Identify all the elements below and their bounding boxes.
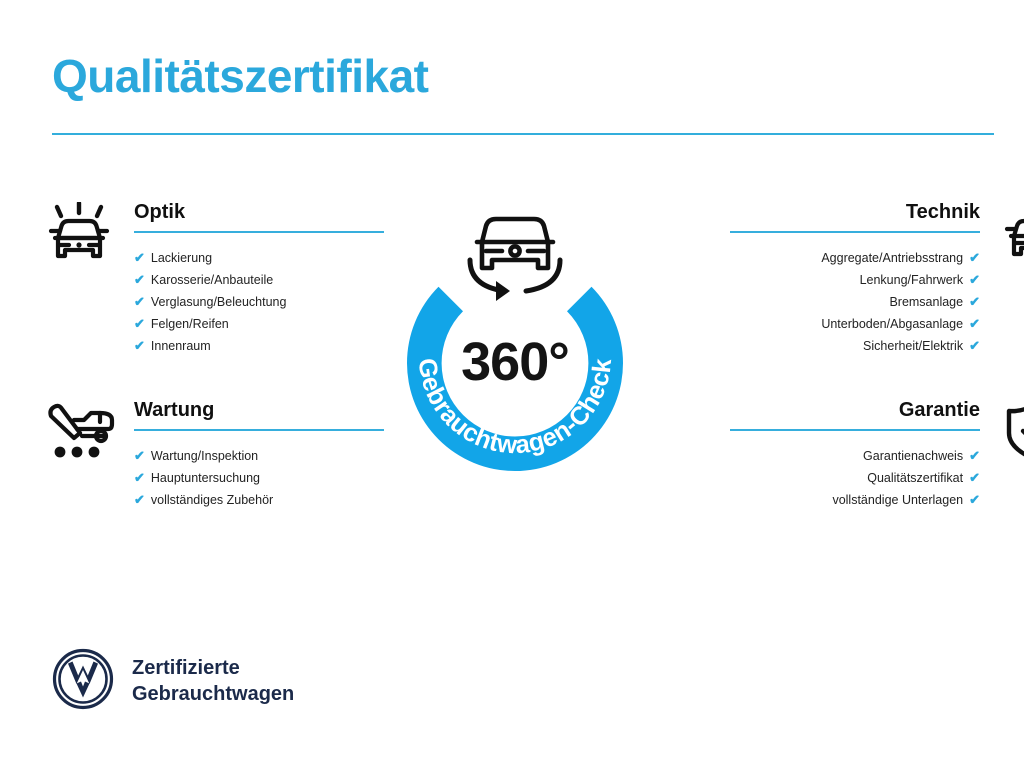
footer-logo-text: Zertifizierte Gebrauchtwagen [132,656,294,707]
check-icon: ✔ [134,272,145,287]
section-technik: Technik Aggregate/Antriebsstrang✔ Lenkun… [640,202,1024,357]
list-item-label: Garantienachweis [863,449,963,463]
list-item-label: Verglasung/Beleuchtung [151,295,287,309]
check-icon: ✔ [134,448,145,463]
check-icon: ✔ [134,338,145,353]
section-garantie: Garantie Garantienachweis✔ Qualitätszert… [640,400,1024,511]
list-item: Aggregate/Antriebsstrang✔ [640,247,980,269]
check-icon: ✔ [969,338,980,353]
checklist-garantie: Garantienachweis✔ Qualitätszertifikat✔ v… [640,431,980,511]
checklist-technik: Aggregate/Antriebsstrang✔ Lenkung/Fahrwe… [640,233,980,357]
check-icon: ✔ [969,448,980,463]
title-divider [52,133,994,135]
section-heading-garantie: Garantie [640,400,980,429]
list-item: Unterboden/Abgasanlage✔ [640,313,980,335]
car-checkbox-icon [998,202,1024,271]
page-title: Qualitätszertifikat [52,52,429,100]
list-item-label: Bremsanlage [889,295,963,309]
list-item-label: Karosserie/Anbauteile [151,273,273,287]
volkswagen-logo [52,648,114,715]
list-item-label: Innenraum [151,339,211,353]
certificate-page: Qualitätszertifikat [0,0,1024,768]
list-item-label: Lenkung/Fahrwerk [860,273,964,287]
check-icon: ✔ [134,294,145,309]
check-icon: ✔ [969,294,980,309]
list-item-label: vollständige Unterlagen [832,493,963,507]
check-icon: ✔ [134,470,145,485]
list-item-label: Unterboden/Abgasanlage [821,317,963,331]
badge-center-label: 360° [374,335,656,389]
car-service-tool-icon [44,400,116,469]
footer-logo: Zertifizierte Gebrauchtwagen [52,648,294,715]
list-item: vollständige Unterlagen✔ [640,489,980,511]
check-icon: ✔ [969,492,980,507]
list-item-label: Sicherheit/Elektrik [863,339,963,353]
list-item-label: vollständiges Zubehör [151,493,273,507]
check-icon: ✔ [134,250,145,265]
check-icon: ✔ [134,316,145,331]
list-item: ✔vollständiges Zubehör [134,489,474,511]
car-shine-icon [44,202,116,271]
footer-logo-line1: Zertifizierte [132,656,294,682]
check-icon: ✔ [969,316,980,331]
footer-logo-line2: Gebrauchtwagen [132,682,294,708]
check-icon: ✔ [134,492,145,507]
check-icon: ✔ [969,250,980,265]
list-item-label: Hauptuntersuchung [151,471,260,485]
badge-360-gebrauchtwagen-check: Gebrauchtwagen-Check 360° [374,192,656,492]
list-item: Lenkung/Fahrwerk✔ [640,269,980,291]
section-heading-technik: Technik [640,202,980,231]
list-item: Bremsanlage✔ [640,291,980,313]
list-item: Sicherheit/Elektrik✔ [640,335,980,357]
list-item-label: Wartung/Inspektion [151,449,258,463]
shield-check-icon [998,400,1024,469]
list-item: Garantienachweis✔ [640,445,980,467]
car-rotate-icon [470,219,560,301]
list-item: Qualitätszertifikat✔ [640,467,980,489]
check-icon: ✔ [969,470,980,485]
list-item-label: Aggregate/Antriebsstrang [821,251,963,265]
list-item-label: Qualitätszertifikat [867,471,963,485]
check-icon: ✔ [969,272,980,287]
list-item-label: Lackierung [151,251,212,265]
list-item-label: Felgen/Reifen [151,317,229,331]
